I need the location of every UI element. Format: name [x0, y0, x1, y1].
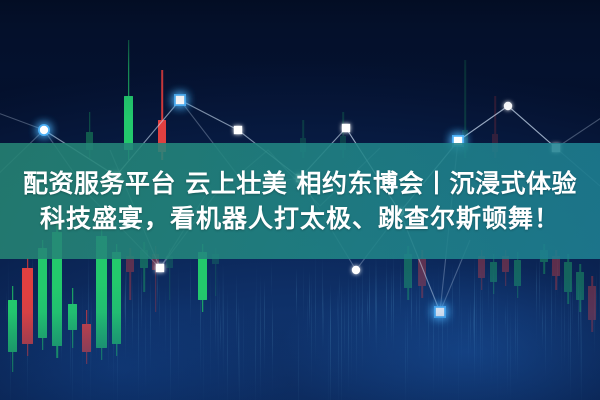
headline-line-1: 配资服务平台 云上壮美 相约东博会丨沉浸式体验	[23, 169, 577, 199]
headline-block: 配资服务平台 云上壮美 相约东博会丨沉浸式体验 科技盛宴，看机器人打太极、跳查尔…	[0, 143, 600, 259]
headline-line-2: 科技盛宴，看机器人打太极、跳查尔斯顿舞！	[40, 204, 560, 234]
promo-banner: 配资服务平台 云上壮美 相约东博会丨沉浸式体验 科技盛宴，看机器人打太极、跳查尔…	[0, 0, 600, 400]
